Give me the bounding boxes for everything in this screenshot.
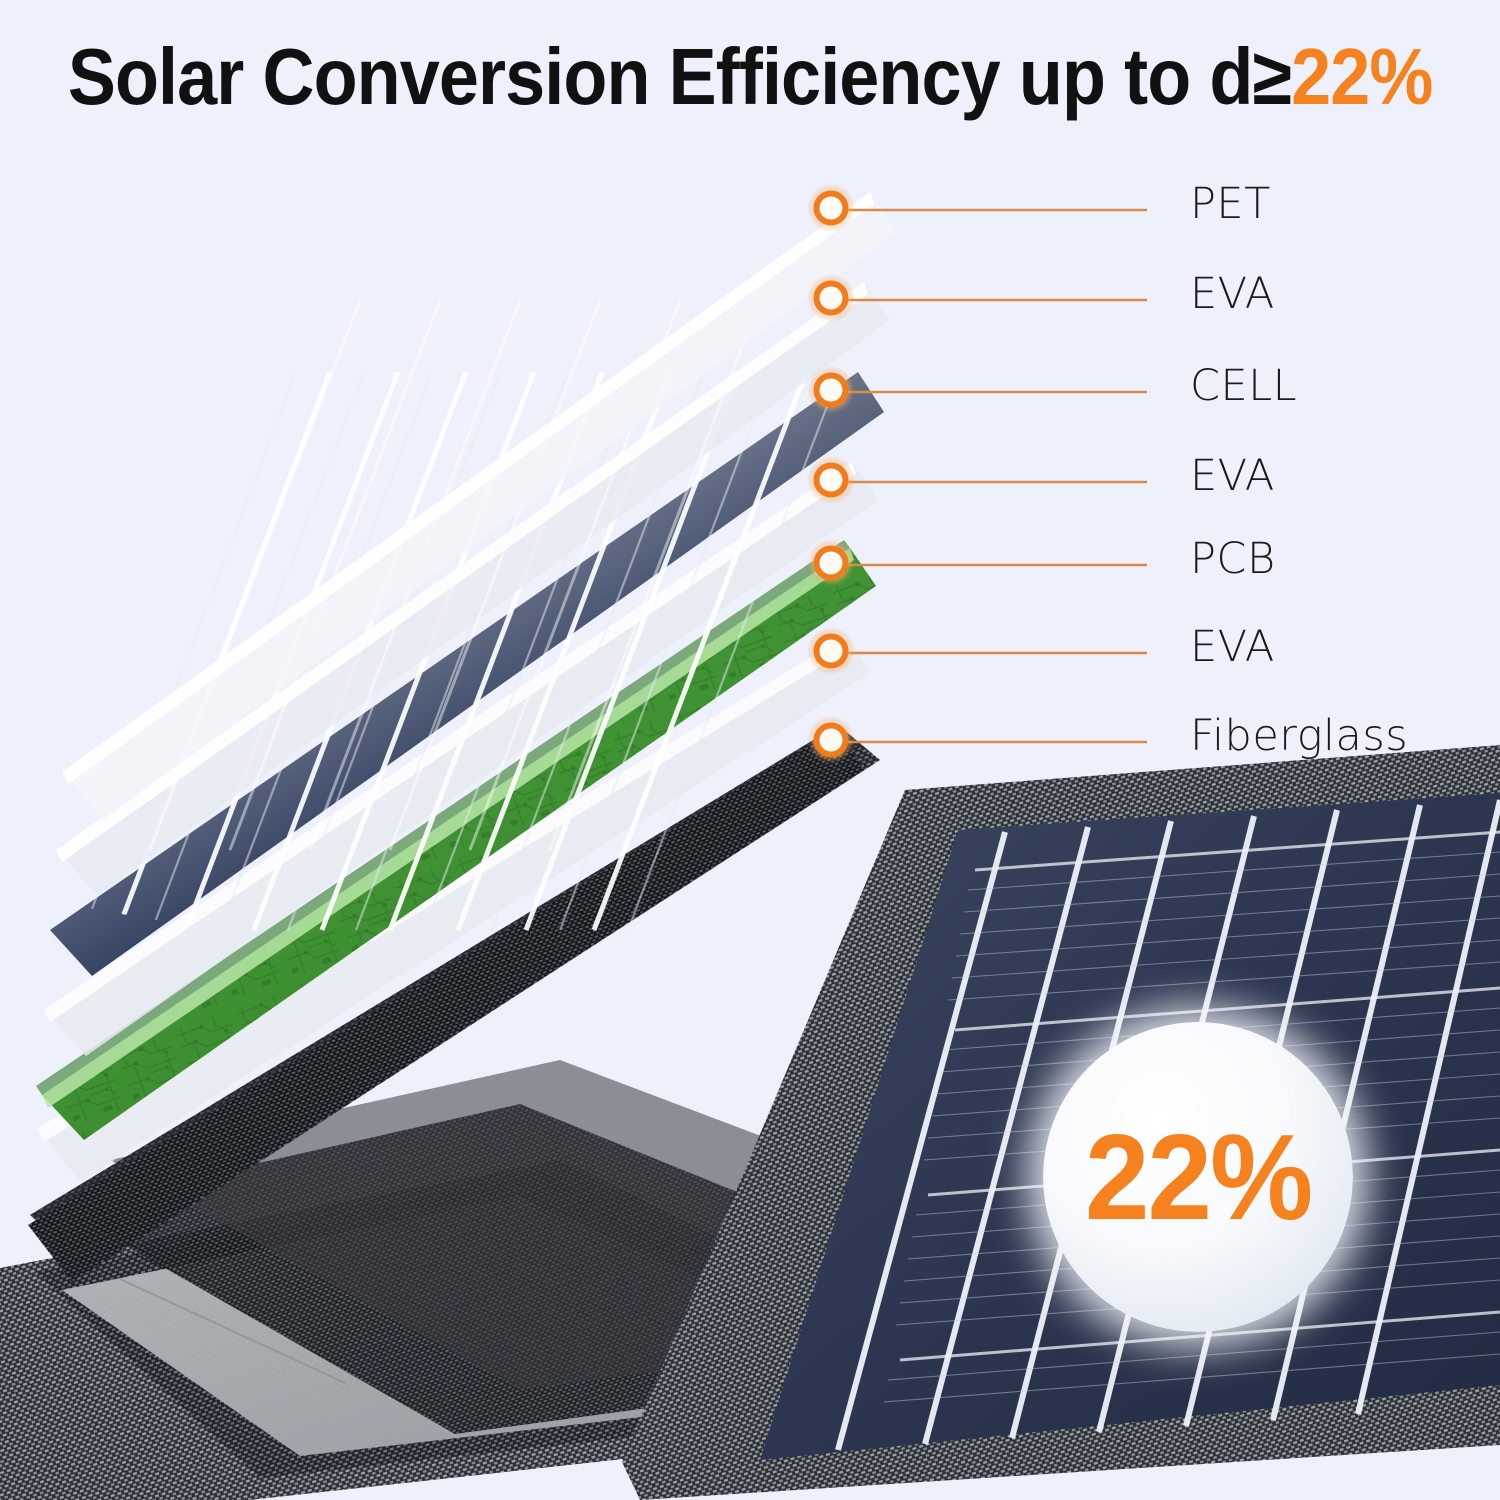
callout-cell-label: CELL [1190,361,1297,411]
efficiency-badge: 22% [1043,1022,1353,1332]
callout-fiberglass-label: Fiberglass [1190,711,1408,761]
callout-pcb-marker-icon[interactable] [817,549,846,578]
callout-eva-bottom-label: EVA [1190,622,1275,672]
callout-eva-mid-label: EVA [1190,451,1275,501]
callout-pet-marker-icon[interactable] [817,194,846,223]
callout-eva-bottom-marker-icon[interactable] [817,637,846,666]
callout-cell-marker-icon[interactable] [817,376,846,405]
efficiency-badge-value: 22% [1085,1116,1311,1238]
callout-eva-mid-marker-icon[interactable] [817,466,846,495]
callout-pet-label: PET [1190,179,1271,229]
callout-fiberglass-marker-icon[interactable] [817,726,846,755]
infographic-canvas: 22% Solar Conversion Efficiency up to d≥… [0,0,1500,1500]
callout-pcb-label: PCB [1190,534,1276,584]
callout-eva-top-label: EVA [1190,269,1275,319]
callout-eva-top-marker-icon[interactable] [817,284,846,313]
